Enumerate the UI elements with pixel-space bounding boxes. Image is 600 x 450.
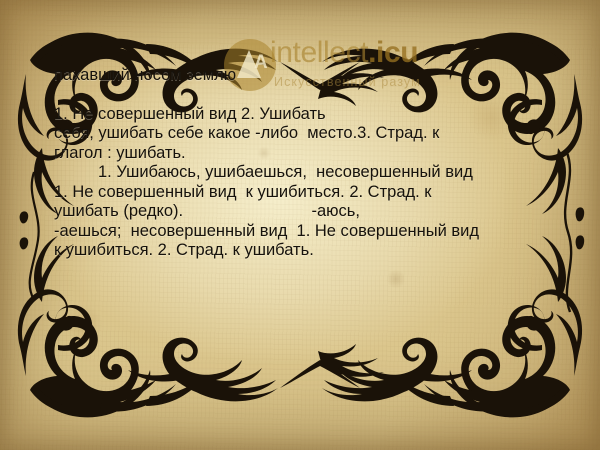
- body-line: себя, ушибать себе какое -либо место.3. …: [54, 124, 554, 144]
- watermark-brand: intellect.icu: [270, 36, 418, 70]
- body-line: 1. Не совершенный вид к ушибиться. 2. Ст…: [54, 183, 554, 203]
- body-line: 1. Не совершенный вид 2. Ушибать: [54, 105, 554, 125]
- text-body: пахавший носом землю 1. Не совершенный в…: [54, 66, 554, 261]
- body-line: ушибать (редко). -аюсь,: [54, 202, 554, 222]
- body-line: -аешься; несовершенный вид 1. Не соверше…: [54, 222, 554, 242]
- body-line: к ушибиться. 2. Страд. к ушибать.: [54, 241, 554, 261]
- body-line: пахавший носом землю: [54, 66, 554, 86]
- body-line: глагол : ушибать.: [54, 144, 554, 164]
- watermark-brand-suffix: .icu: [368, 36, 418, 69]
- watermark-brand-prefix: intellect: [270, 36, 368, 69]
- body-line: 1. Ушибаюсь, ушибаешься, несовершенный в…: [54, 163, 554, 183]
- body-line-spacer: [54, 86, 554, 105]
- parchment-page: A intellect.icu Искусственный разум паха…: [0, 0, 600, 450]
